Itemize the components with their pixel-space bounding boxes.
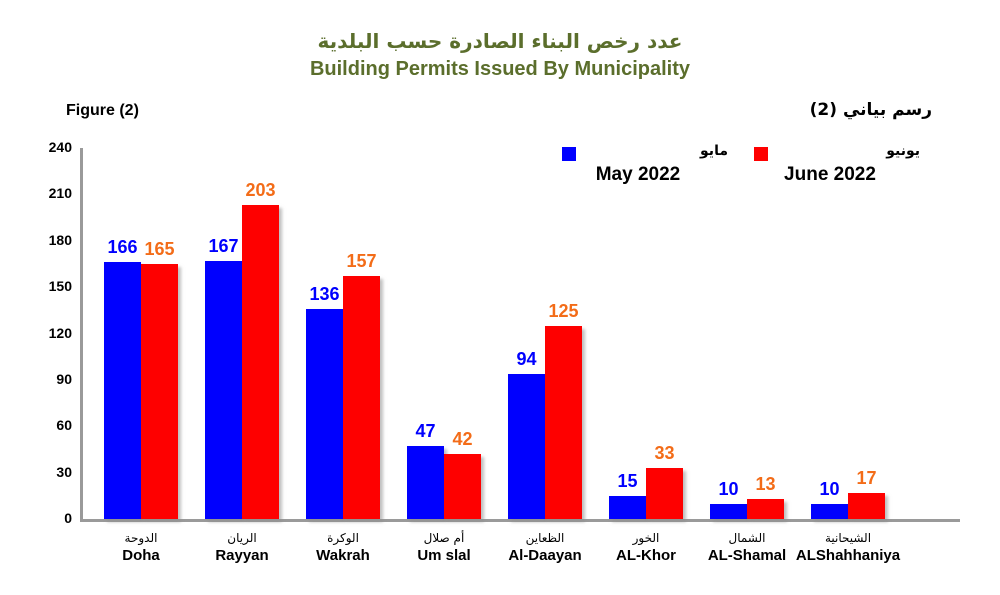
y-axis-tick-60: 60 [32, 417, 72, 433]
bar-um-slal-june[interactable] [444, 454, 481, 519]
bar-value-label-wakrah-june: 157 [332, 251, 392, 272]
bar-al-daayan-may[interactable] [508, 374, 545, 519]
bar-rayyan-may[interactable] [205, 261, 242, 519]
bar-alshahhaniya-june[interactable] [848, 493, 885, 519]
bar-value-label-um-slal-june: 42 [433, 429, 493, 450]
y-axis-tick-30: 30 [32, 464, 72, 480]
x-axis-line [80, 519, 960, 522]
figure-number-label-arabic: رسم بياني (2) [810, 100, 932, 120]
bar-rayyan-june[interactable] [242, 205, 279, 519]
bar-value-label-alshahhaniya-june: 17 [837, 468, 897, 489]
y-axis-tick-90: 90 [32, 371, 72, 387]
chart-title-english: Building Permits Issued By Municipality [0, 56, 1000, 82]
chart-title-block: عدد رخص البناء الصادرة حسب البلدية Build… [0, 28, 1000, 82]
y-axis-tick-0: 0 [32, 510, 72, 526]
y-axis-tick-120: 120 [32, 325, 72, 341]
y-axis-tick-210: 210 [32, 185, 72, 201]
bar-al-shamal-june[interactable] [747, 499, 784, 519]
bar-value-label-al-daayan-june: 125 [534, 301, 594, 322]
bar-doha-june[interactable] [141, 264, 178, 519]
category-label-english: ALShahhaniya [773, 546, 923, 565]
y-axis-tick-240: 240 [32, 139, 72, 155]
figure-number-label-english: Figure (2) [66, 102, 139, 120]
bar-al-shamal-may[interactable] [710, 504, 747, 519]
y-axis-tick-150: 150 [32, 278, 72, 294]
bar-value-label-al-khor-june: 33 [635, 443, 695, 464]
chart-title-arabic: عدد رخص البناء الصادرة حسب البلدية [0, 28, 1000, 54]
category-label-arabic: الشيحانية [773, 530, 923, 546]
bar-al-daayan-june[interactable] [545, 326, 582, 519]
bar-wakrah-june[interactable] [343, 276, 380, 519]
y-axis-line [80, 148, 83, 519]
bar-wakrah-may[interactable] [306, 309, 343, 519]
bar-al-khor-june[interactable] [646, 468, 683, 519]
y-axis-tick-180: 180 [32, 232, 72, 248]
chart-plot-area: 0306090120150180210240 16616516720313615… [80, 148, 960, 519]
bar-value-label-rayyan-june: 203 [231, 180, 291, 201]
bar-al-khor-may[interactable] [609, 496, 646, 519]
bar-alshahhaniya-may[interactable] [811, 504, 848, 519]
bar-value-label-al-shamal-june: 13 [736, 474, 796, 495]
category-label-alshahhaniya: الشيحانيةALShahhaniya [773, 530, 923, 565]
bar-um-slal-may[interactable] [407, 446, 444, 519]
bar-doha-may[interactable] [104, 262, 141, 519]
bar-value-label-doha-june: 165 [130, 239, 190, 260]
